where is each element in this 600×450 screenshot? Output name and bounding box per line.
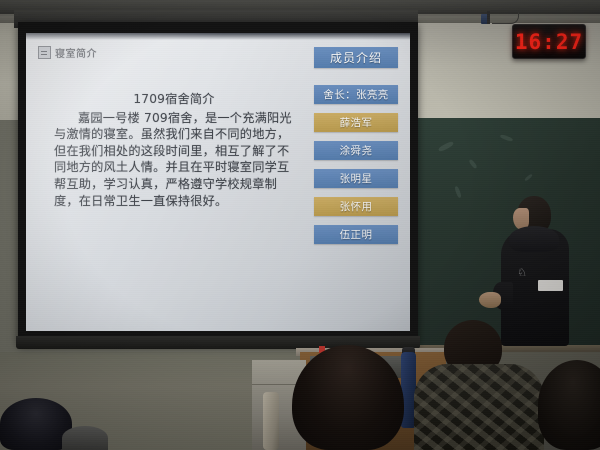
slide-body: 1709宿舍简介 嘉园一号楼 709宿舍，是一个充满阳光与激情的寝室。虽然我们来… <box>54 91 294 209</box>
slide-body-paragraph: 嘉园一号楼 709宿舍，是一个充满阳光与激情的寝室。虽然我们来自不同的地方，但在… <box>54 110 294 210</box>
projection-screen: 寝室简介 1709宿舍简介 嘉园一号楼 709宿舍，是一个充满阳光与激情的寝室。… <box>26 33 410 331</box>
member-chip-1: 薛浩军 <box>314 113 398 132</box>
member-chip-3: 张明星 <box>314 169 398 188</box>
slide-header: 寝室简介 <box>38 45 97 60</box>
member-list: 成员介绍 舍长：张亮亮 薛浩军 涂舜尧 张明星 张怀用 伍正明 <box>314 47 398 253</box>
slide-header-title: 寝室简介 <box>55 45 97 60</box>
member-section-title: 成员介绍 <box>314 47 398 68</box>
presenter-hood <box>509 226 559 252</box>
slide-body-title: 1709宿舍简介 <box>54 91 294 108</box>
member-chip-4: 张怀用 <box>314 197 398 216</box>
digital-clock: 16:27 <box>512 24 586 59</box>
hoodie-logo-icon: ♘ <box>515 266 529 280</box>
water-bottle-secondary <box>263 392 279 450</box>
student-far-right <box>538 360 600 450</box>
student-head <box>62 426 108 450</box>
classroom-photo: 寝室简介 1709宿舍简介 嘉园一号楼 709宿舍，是一个充满阳光与激情的寝室。… <box>0 0 600 450</box>
member-chip-5: 伍正明 <box>314 225 398 244</box>
clock-wire <box>492 12 519 24</box>
student-right <box>414 322 544 450</box>
student-jacket <box>414 364 544 450</box>
screen-top-shadow <box>26 33 410 40</box>
member-chip-0: 舍长：张亮亮 <box>314 85 398 104</box>
student-center <box>292 345 404 450</box>
clock-time: 16:27 <box>515 30 583 54</box>
presenter-hand <box>479 292 501 308</box>
presentation-slide: 寝室简介 1709宿舍简介 嘉园一号楼 709宿舍，是一个充满阳光与激情的寝室。… <box>26 33 410 331</box>
student-head <box>538 360 600 450</box>
student-head <box>292 345 404 450</box>
clock-mount <box>487 11 490 24</box>
member-chip-2: 涂舜尧 <box>314 141 398 160</box>
sleeve-patch <box>538 280 563 291</box>
student-left-far <box>62 426 108 450</box>
slide-thumbnail-icon <box>38 46 51 59</box>
